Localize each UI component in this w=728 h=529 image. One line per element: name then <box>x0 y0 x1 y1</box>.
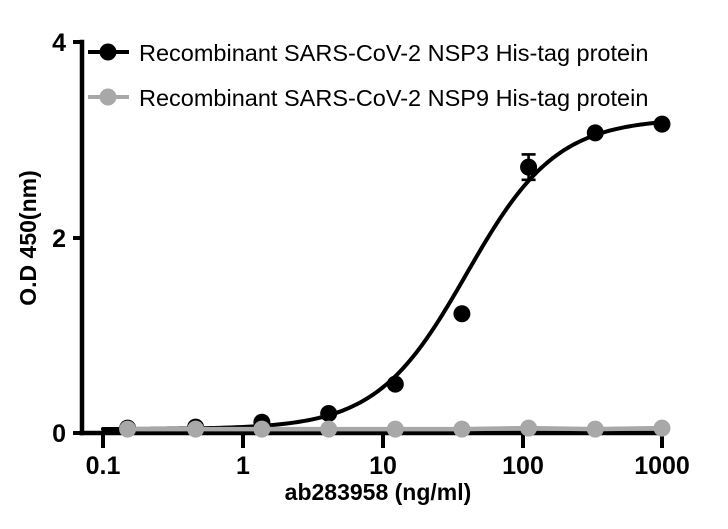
data-point <box>654 420 671 437</box>
y-tick-label-2: 2 <box>52 225 66 253</box>
data-point <box>187 421 204 438</box>
x-tick-label-10: 10 <box>369 452 397 480</box>
data-point <box>520 420 537 437</box>
legend-label-nsp3: Recombinant SARS-CoV-2 NSP3 His-tag prot… <box>139 40 648 66</box>
legend-marker-nsp9 <box>100 89 117 106</box>
data-point <box>320 405 337 422</box>
x-tick-label-0.1: 0.1 <box>86 452 121 480</box>
data-point <box>320 421 337 438</box>
x-tick-label-1: 1 <box>236 452 250 480</box>
data-point <box>520 159 537 176</box>
x-axis-title: ab283958 (ng/ml) <box>285 479 472 505</box>
data-point <box>587 421 604 438</box>
data-series-layer <box>103 116 671 438</box>
x-tick-label-100: 100 <box>502 452 544 480</box>
legend-marker-nsp3 <box>100 44 117 61</box>
chart-canvas: 4 2 0 0.1 1 10 100 1000 O.D 450(nm) ab28… <box>0 0 728 529</box>
legend-entry-nsp9[interactable]: Recombinant SARS-CoV-2 NSP9 His-tag prot… <box>88 85 648 111</box>
elisa-binding-curve-figure: 4 2 0 0.1 1 10 100 1000 O.D 450(nm) ab28… <box>0 0 728 529</box>
data-point <box>253 421 270 438</box>
series-curve-nsp3 <box>103 122 662 429</box>
data-point <box>387 376 404 393</box>
data-point <box>654 116 671 133</box>
y-axis-title: O.D 450(nm) <box>15 170 41 305</box>
legend-label-nsp9: Recombinant SARS-CoV-2 NSP9 His-tag prot… <box>139 85 648 111</box>
series-nsp3 <box>103 116 671 437</box>
x-tick-label-1000: 1000 <box>634 452 690 480</box>
y-tick-label-4: 4 <box>52 29 66 57</box>
data-point <box>587 124 604 141</box>
legend-entry-nsp3[interactable]: Recombinant SARS-CoV-2 NSP3 His-tag prot… <box>88 40 648 66</box>
data-point <box>453 421 470 438</box>
data-point <box>119 421 136 438</box>
chart-legend: Recombinant SARS-CoV-2 NSP3 His-tag prot… <box>88 40 648 111</box>
data-point <box>453 305 470 322</box>
data-point <box>387 421 404 438</box>
y-tick-label-0: 0 <box>52 420 66 448</box>
